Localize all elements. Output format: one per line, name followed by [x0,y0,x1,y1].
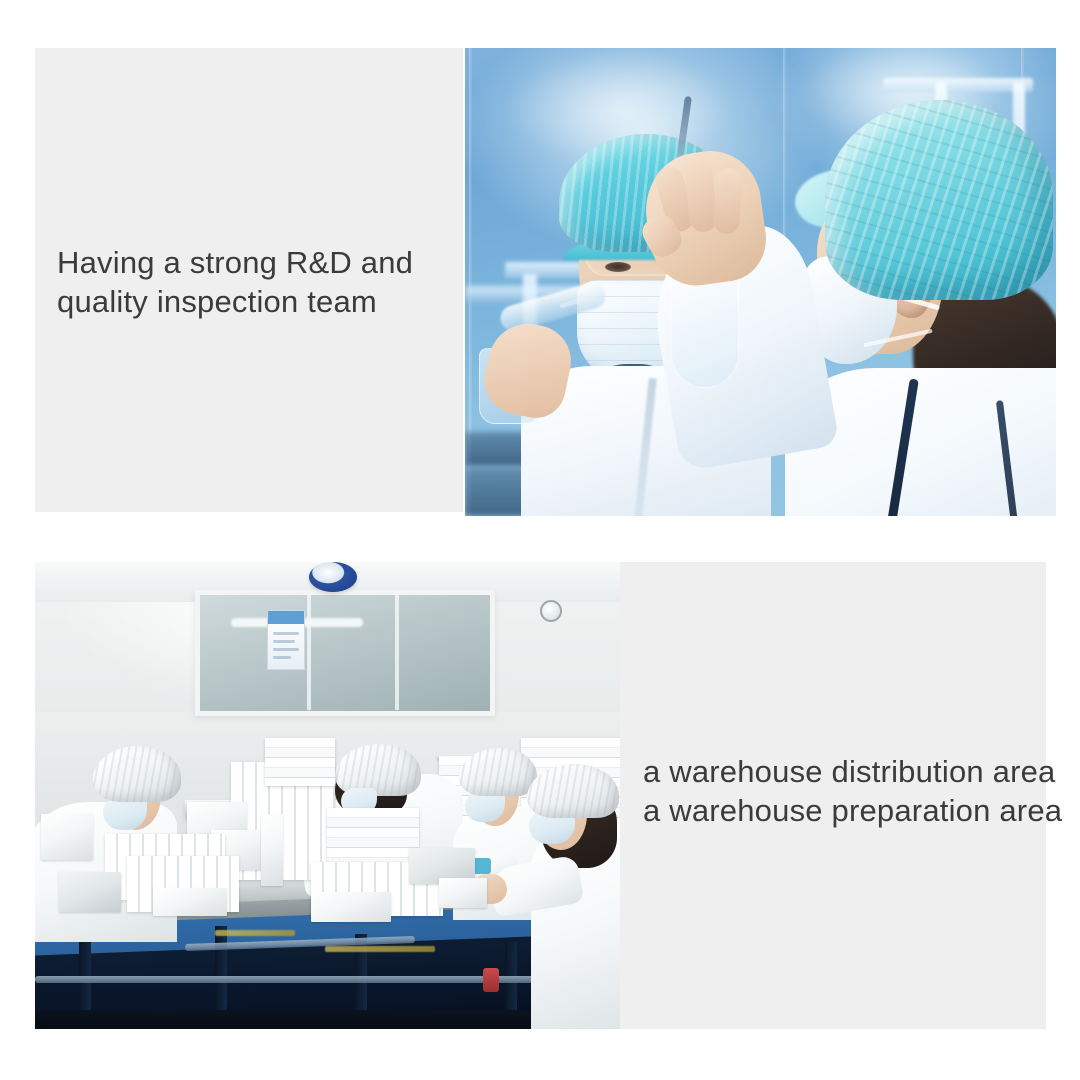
worker-3-hair-cap [459,748,537,796]
yellow-floor-marking-2 [325,946,435,952]
box-8 [439,878,487,908]
cap-texture-w3 [459,748,537,796]
white-bottle-tall [261,814,283,886]
rd-caption-block: Having a strong R&D and quality inspecti… [57,243,413,321]
box-6 [153,888,227,916]
finger-3 [713,167,744,235]
warehouse-photo [35,562,620,1029]
cap-texture [825,100,1053,300]
rd-caption-line-1: Having a strong R&D and [57,243,413,282]
wall-clock [540,600,562,622]
warehouse-caption-panel: a warehouse distribution area a warehous… [620,562,1046,1029]
cap-texture-w1 [93,746,181,802]
company-logo-badge [309,562,357,592]
yellow-floor-marking [215,930,295,936]
technician-b-hair-cap [825,100,1053,300]
rd-caption-panel: Having a strong R&D and quality inspecti… [35,48,463,512]
rd-quality-photo [465,48,1056,516]
sign-text-line-3 [273,648,299,651]
lab-shelf-rack [883,78,1033,92]
window-mullion-2 [395,594,399,710]
box-5 [311,892,391,922]
worker-1-hair-cap [93,746,181,802]
red-object [483,968,499,992]
warehouse-caption-line-1: a warehouse distribution area [643,752,1062,791]
warehouse-caption-block: a warehouse distribution area a warehous… [643,752,1062,830]
sign-text-line-4 [273,656,291,659]
sign-text-line-1 [273,632,299,635]
box-1 [41,814,93,860]
box-7 [59,872,121,912]
warehouse-caption-line-2: a warehouse preparation area [643,791,1062,830]
rd-caption-line-2: quality inspection team [57,282,413,321]
notice-sign-header [268,611,304,624]
interior-window [195,590,495,716]
box-stack-center-top [265,738,335,786]
window-mullion [307,594,311,710]
sign-text-line-2 [273,640,295,643]
